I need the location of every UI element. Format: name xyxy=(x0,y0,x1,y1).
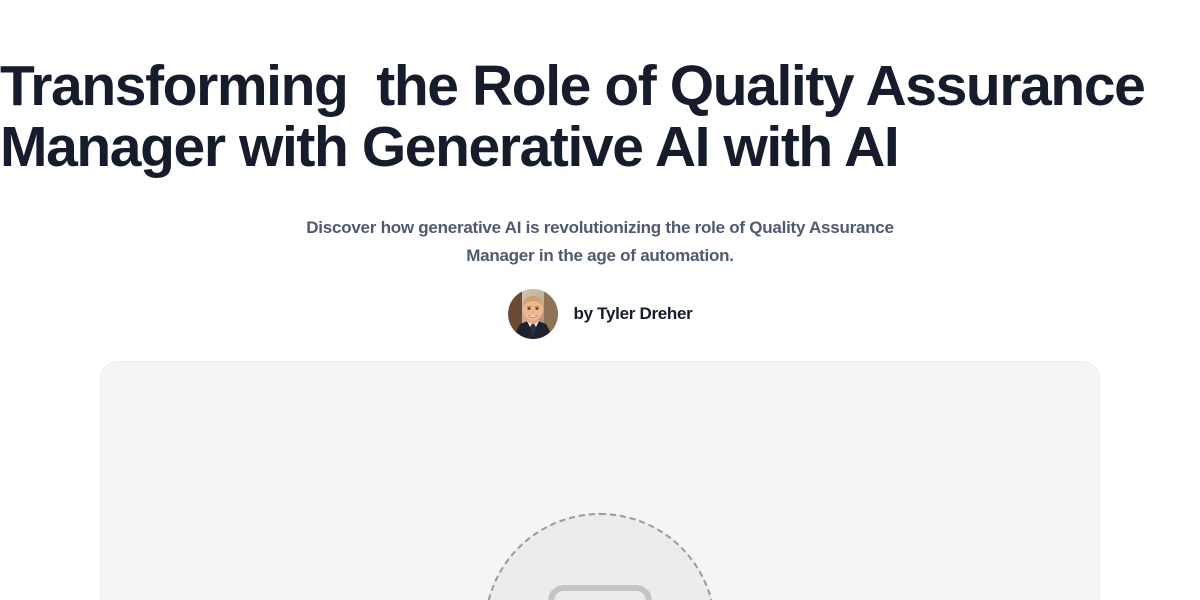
image-placeholder-icon xyxy=(548,585,652,600)
article-hero-page: Transforming the Role of Quality Assuran… xyxy=(0,0,1200,600)
avatar xyxy=(508,289,558,339)
author-name: by Tyler Dreher xyxy=(574,304,693,324)
image-placeholder xyxy=(484,513,716,600)
byline: by Tyler Dreher xyxy=(0,289,1200,339)
page-title: Transforming the Role of Quality Assuran… xyxy=(0,56,1200,178)
hero-image-card xyxy=(100,361,1100,600)
article-subtitle: Discover how generative AI is revolution… xyxy=(300,214,900,270)
